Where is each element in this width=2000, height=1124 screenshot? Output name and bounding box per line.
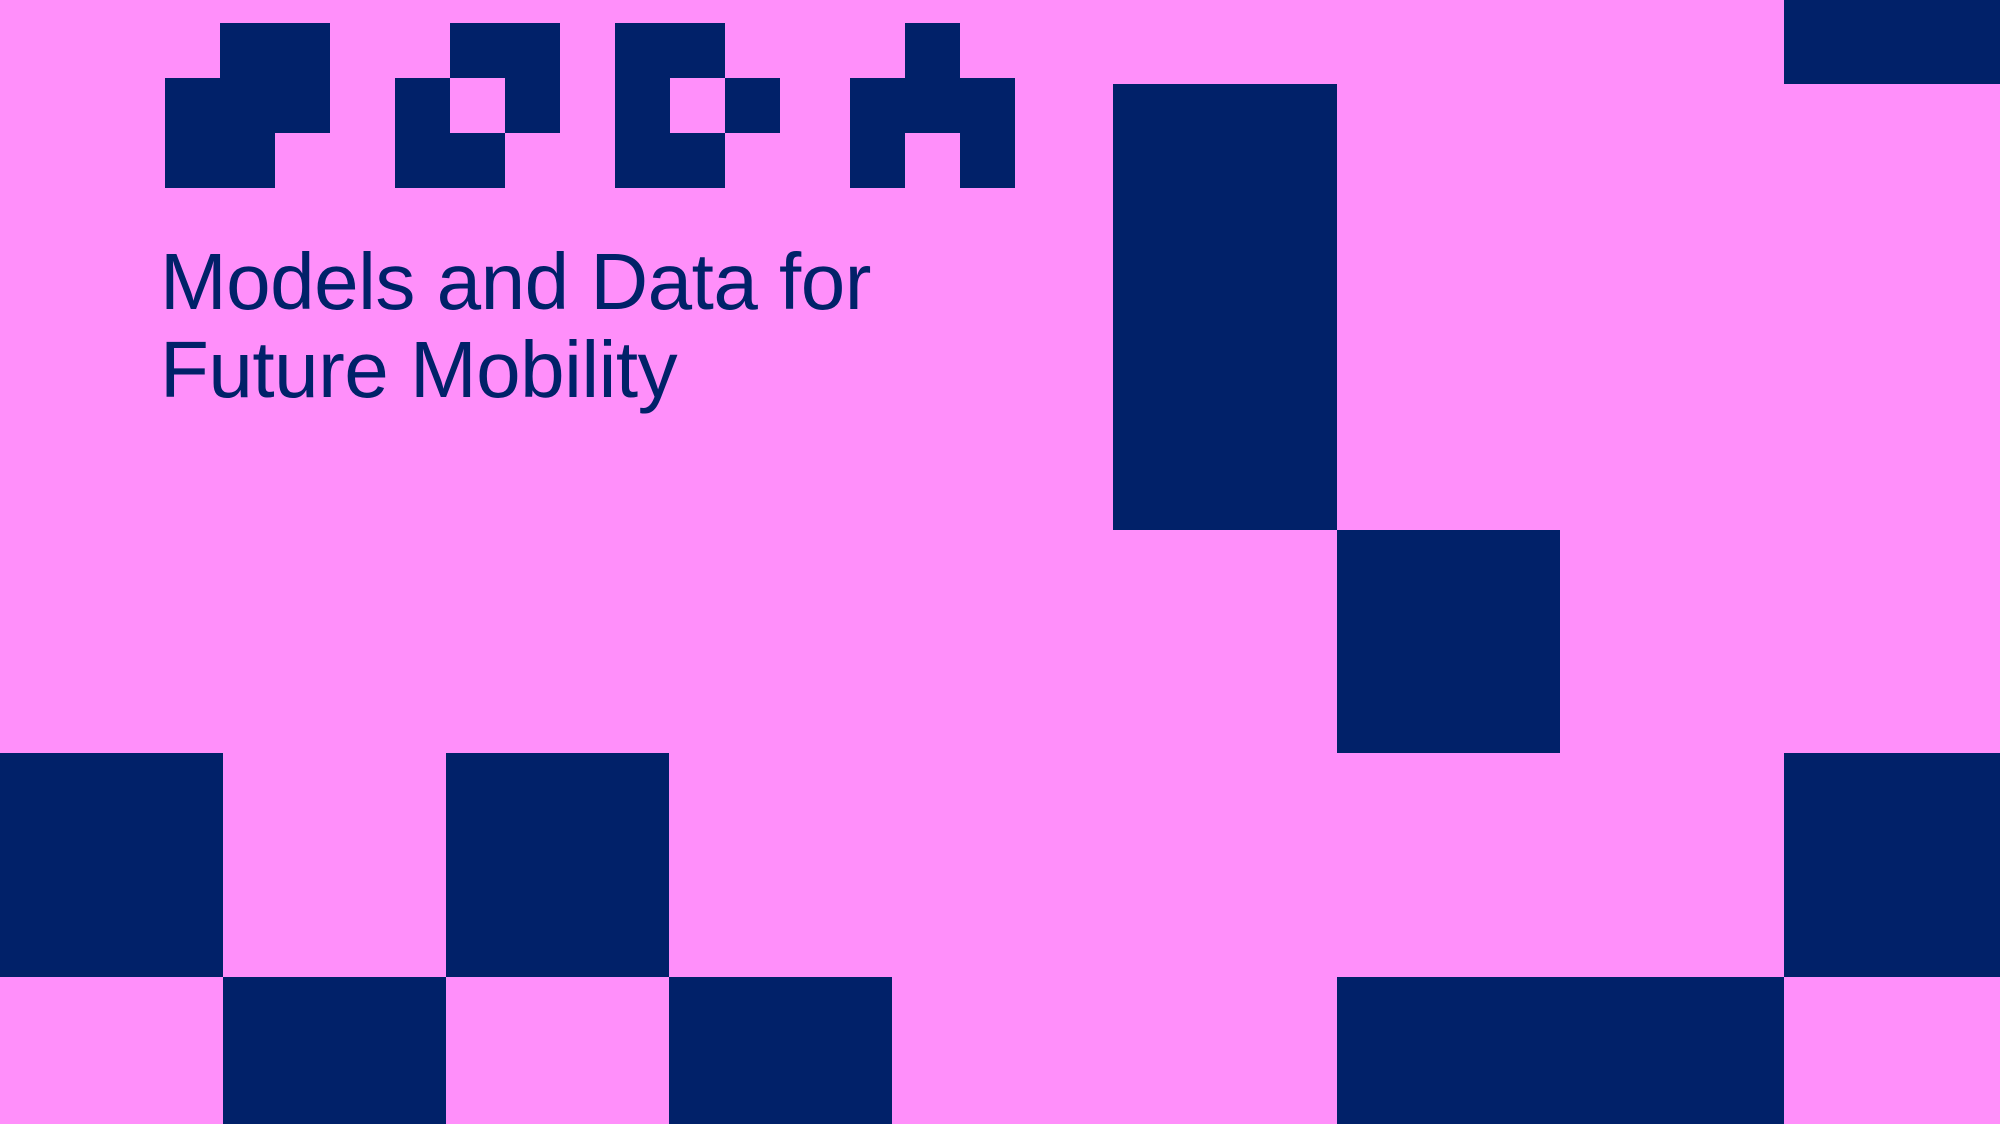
brand-cell [960,133,1015,188]
deco-block-bottom-3 [1337,977,1784,1124]
brand-wordmark[interactable]: root [165,23,1015,198]
deco-block-mid-center [446,753,669,977]
brand-cell [905,23,960,78]
poster-canvas: root [0,0,2000,1124]
brand-letter-t [165,23,1015,198]
deco-block-mid-right [1784,753,2000,977]
deco-block-square-center [1337,530,1560,753]
brand-cell [960,78,1015,133]
page-title: Models and Data for Future Mobility [160,238,1160,414]
deco-block-top-right [1784,0,2000,84]
brand-cell [850,133,905,188]
deco-block-bottom-1 [223,977,446,1124]
brand-cell [850,78,905,133]
deco-block-mid-left [0,753,223,977]
brand-cell [905,78,960,133]
deco-block-bottom-2 [669,977,892,1124]
